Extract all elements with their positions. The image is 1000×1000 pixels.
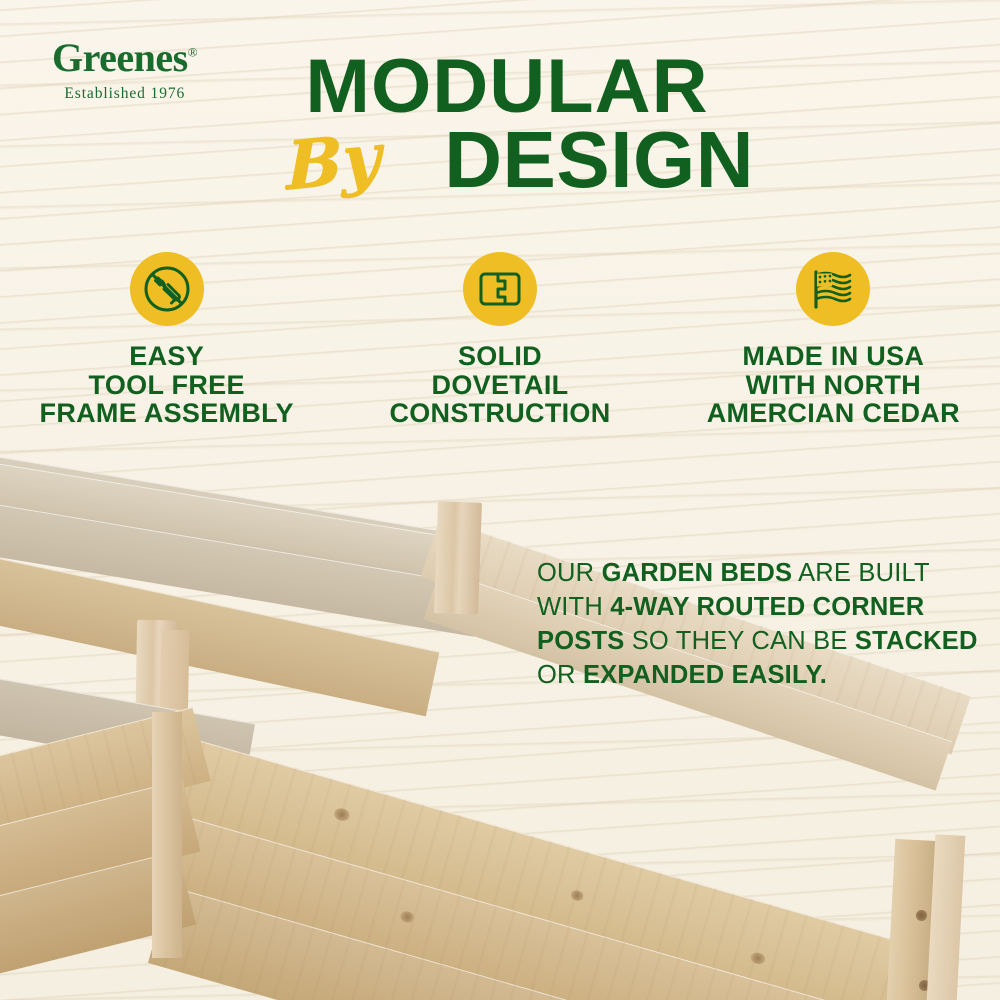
feature-badge	[130, 252, 204, 326]
brand-logo: Greenes® Established 1976	[52, 38, 198, 103]
feature-label: SOLID DOVETAIL CONSTRUCTION	[350, 342, 650, 428]
headline-line-2: DESIGN	[444, 120, 754, 200]
feature-line: EASY	[17, 342, 317, 371]
feature-line: FRAME ASSEMBLY	[17, 399, 317, 428]
headline-line-1: MODULAR	[267, 52, 746, 122]
product-photo	[0, 440, 1000, 1000]
feature-line: DOVETAIL	[350, 371, 650, 400]
body-copy: OUR GARDEN BEDS ARE BUILT WITH 4-WAY ROU…	[537, 556, 957, 692]
feature-row: EASY TOOL FREE FRAME ASSEMBLY SOLID DOVE…	[0, 252, 1000, 428]
feature-label: MADE IN USA WITH NORTH AMERCIAN CEDAR	[683, 342, 983, 428]
registered-trademark-icon: ®	[188, 45, 198, 60]
logo-wordmark: Greenes®	[52, 38, 198, 78]
dovetail-joint-icon	[476, 265, 524, 313]
copy-line-4: OR EXPANDED EASILY.	[537, 658, 957, 692]
feature-solid-dovetail: SOLID DOVETAIL CONSTRUCTION	[350, 252, 650, 428]
copy-line-1: OUR GARDEN BEDS ARE BUILT	[537, 556, 957, 590]
feature-line: CONSTRUCTION	[350, 399, 650, 428]
feature-line: WITH NORTH	[683, 371, 983, 400]
usa-flag-icon	[808, 264, 858, 314]
feature-line: AMERCIAN CEDAR	[683, 399, 983, 428]
copy-line-3: POSTS SO THEY CAN BE STACKED	[537, 624, 957, 658]
feature-line: TOOL FREE	[17, 371, 317, 400]
logo-tagline: Established 1976	[52, 85, 198, 103]
feature-easy-tool-free: EASY TOOL FREE FRAME ASSEMBLY	[17, 252, 317, 428]
headline: MODULAR DESIGN By	[272, 52, 742, 206]
logo-name: Greenes	[52, 35, 188, 80]
copy-line-2: WITH 4-WAY ROUTED CORNER	[537, 590, 957, 624]
headline-row-2: DESIGN By	[272, 120, 742, 206]
feature-line: MADE IN USA	[683, 342, 983, 371]
feature-line: SOLID	[350, 342, 650, 371]
feature-badge	[796, 252, 870, 326]
no-tools-icon	[142, 264, 192, 314]
feature-made-in-usa: MADE IN USA WITH NORTH AMERCIAN CEDAR	[683, 252, 983, 428]
feature-badge	[463, 252, 537, 326]
feature-label: EASY TOOL FREE FRAME ASSEMBLY	[17, 342, 317, 428]
infographic-page: Greenes® Established 1976 MODULAR DESIGN…	[0, 0, 1000, 1000]
headline-script-by: By	[286, 123, 380, 199]
